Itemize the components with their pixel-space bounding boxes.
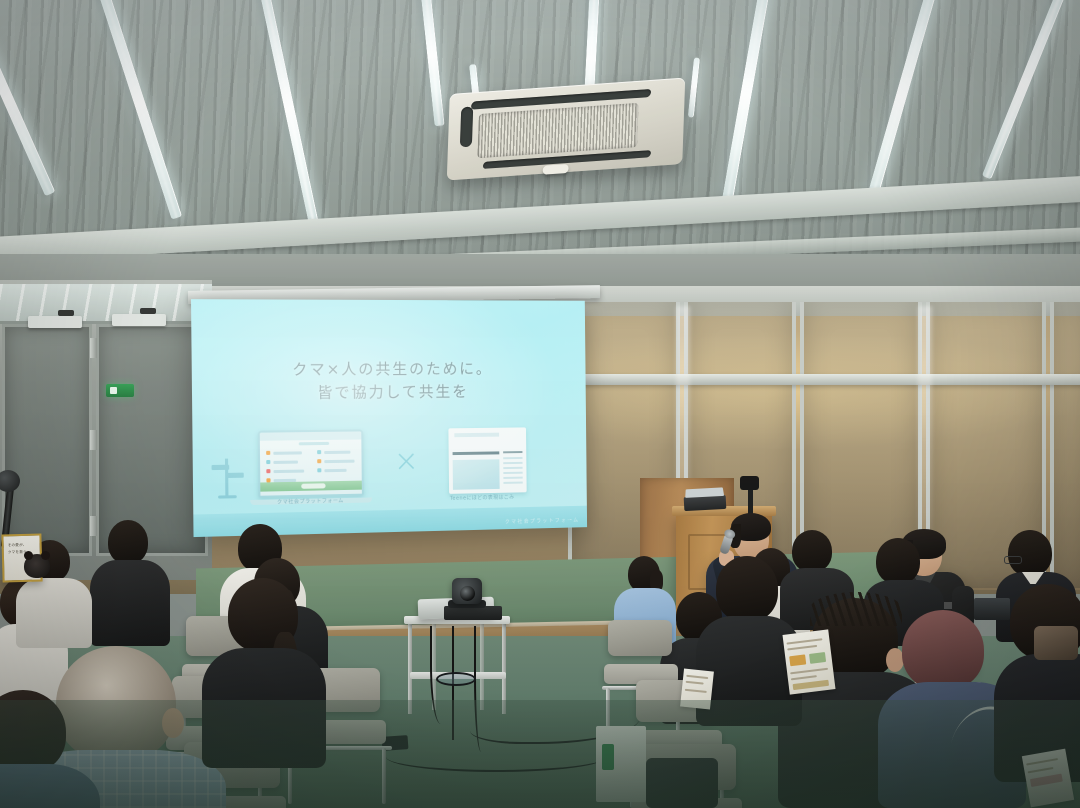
door-closer [112, 314, 166, 326]
glass-partition-panel [1050, 302, 1080, 588]
signpost-illustration-icon [209, 452, 245, 498]
slide-separator-x: × [394, 447, 419, 477]
bear-illustration-icon [24, 554, 50, 578]
audience-head [792, 530, 832, 572]
article-mock-rule [452, 451, 499, 455]
door-hinge [90, 430, 97, 450]
audience-head [1008, 530, 1052, 576]
exit-sign-icon [106, 384, 134, 397]
article-mock-rule-secondary [503, 451, 522, 453]
camera-lens-icon [460, 586, 475, 601]
seminar-room-photo: クマ×人の共生のために。 皆で協力して共生を [0, 0, 1080, 808]
door-hinge [90, 516, 97, 536]
laptop-mock-topbar [260, 431, 362, 440]
article-mock-image [452, 459, 499, 490]
floor-foreground-shadow [0, 700, 1080, 808]
podium-laptop-icon [684, 495, 727, 511]
laptop-mock-column-right [318, 450, 359, 478]
audience-torso [90, 560, 170, 646]
printed-handout[interactable] [783, 629, 836, 694]
microphone-stand-head-icon [740, 476, 759, 490]
slide-title-line-2: 皆で協力して共生を [192, 380, 586, 406]
spiky-hair-texture [810, 592, 902, 626]
glass-partition-rail [560, 374, 1080, 385]
article-mock-text [503, 457, 523, 487]
audience-head [876, 538, 920, 584]
audience-head [902, 610, 984, 690]
ac-vent-left [460, 106, 473, 147]
ac-grille [477, 103, 638, 158]
door-closer-arm [140, 308, 156, 314]
article-mock-heading [454, 433, 499, 438]
laptop-mockup-group [258, 429, 364, 497]
audience-laptop-icon [974, 598, 1010, 620]
door-closer [28, 316, 82, 328]
av-control-box [444, 606, 502, 620]
laptop-mock-title [299, 442, 329, 445]
glass-door-left[interactable] [2, 324, 92, 556]
audience-head [716, 556, 778, 622]
ac-sensor [543, 164, 569, 175]
laptop-mockup-icon [258, 429, 364, 497]
slide-title-line-1: クマ×人の共生のために。 [192, 357, 586, 382]
eyeglasses-icon [1004, 556, 1022, 564]
audience-torso [16, 578, 92, 648]
slide-title: クマ×人の共生のために。 皆で協力して共生を [192, 357, 586, 406]
ceiling-ac-unit-icon [447, 78, 685, 181]
presentation-slide: クマ×人の共生のために。 皆で協力して共生を [191, 299, 587, 537]
cable-coil [436, 672, 476, 686]
laptop-mock-button [302, 483, 326, 489]
projection-screen: クマ×人の共生のために。 皆で協力して共生を [191, 299, 587, 537]
slide-footer-text: クマ社会プラットフォーム [505, 517, 580, 526]
door-hinge [90, 338, 97, 358]
handbag [1034, 626, 1078, 660]
door-closer-arm [58, 310, 74, 316]
article-mockup-icon [448, 427, 526, 493]
audience-head [108, 520, 148, 564]
